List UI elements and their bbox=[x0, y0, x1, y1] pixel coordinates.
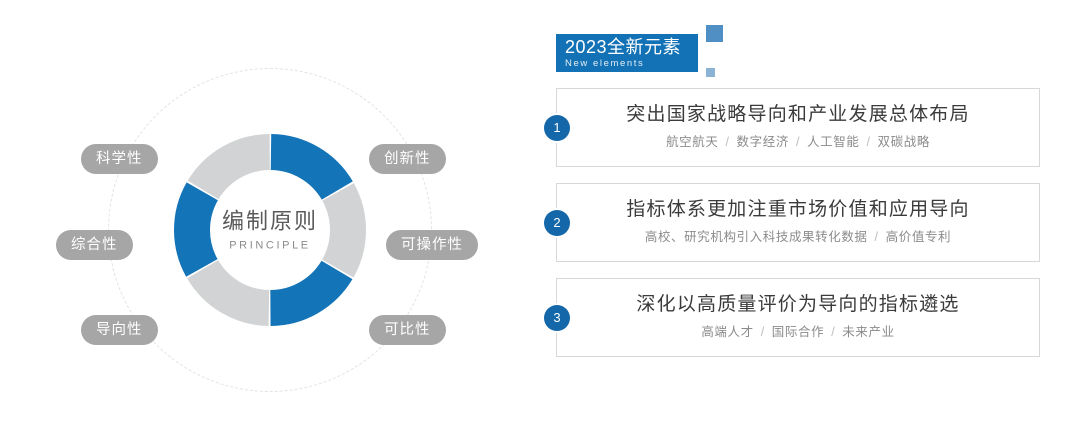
new-elements-panel: 2023全新元素 New elements 1 突出国家战略导向和产业发展总体布… bbox=[530, 0, 1080, 438]
tag-label: 国际合作 bbox=[772, 325, 824, 339]
new-element-card[interactable]: 3 深化以高质量评价为导向的指标遴选 高端人才/国际合作/未来产业 bbox=[556, 278, 1040, 357]
principle-pill-comprehensive[interactable]: 综合性 bbox=[56, 230, 133, 260]
square-decoration-icon-small bbox=[706, 68, 715, 77]
new-element-card[interactable]: 1 突出国家战略导向和产业发展总体布局 航空航天/数字经济/人工智能/双碳战略 bbox=[556, 88, 1040, 167]
tag-separator: / bbox=[859, 135, 877, 149]
tag-label: 高端人才 bbox=[701, 325, 753, 339]
card-title: 指标体系更加注重市场价值和应用导向 bbox=[557, 197, 1039, 223]
tag-separator: / bbox=[718, 135, 736, 149]
tag-label: 航空航天 bbox=[666, 135, 718, 149]
card-title: 深化以高质量评价为导向的指标遴选 bbox=[557, 292, 1039, 318]
card-tags: 高校、研究机构引入科技成果转化数据/高价值专利 bbox=[557, 228, 1039, 246]
donut-chart: 编制原则 PRINCIPLE bbox=[148, 108, 392, 352]
principle-donut-panel: 编制原则 PRINCIPLE 科学性 创新性 综合性 可操作性 导向性 可比性 bbox=[0, 0, 530, 438]
badge-gap-mask bbox=[698, 25, 706, 81]
tag-label: 高价值专利 bbox=[886, 230, 952, 244]
card-body: 深化以高质量评价为导向的指标遴选 高端人才/国际合作/未来产业 bbox=[557, 279, 1039, 341]
donut-chart-svg bbox=[148, 108, 392, 352]
slide-root: 编制原则 PRINCIPLE 科学性 创新性 综合性 可操作性 导向性 可比性 … bbox=[0, 0, 1080, 438]
principle-pill-innovative[interactable]: 创新性 bbox=[369, 144, 446, 174]
tag-label: 人工智能 bbox=[807, 135, 859, 149]
tag-label: 未来产业 bbox=[842, 325, 894, 339]
card-number-badge: 2 bbox=[544, 210, 570, 236]
principle-pill-guiding[interactable]: 导向性 bbox=[81, 315, 158, 345]
tag-label: 双碳战略 bbox=[878, 135, 930, 149]
tag-label: 高校、研究机构引入科技成果转化数据 bbox=[645, 230, 868, 244]
card-title: 突出国家战略导向和产业发展总体布局 bbox=[557, 102, 1039, 128]
new-elements-card-list: 1 突出国家战略导向和产业发展总体布局 航空航天/数字经济/人工智能/双碳战略 … bbox=[556, 88, 1046, 373]
tag-separator: / bbox=[754, 325, 772, 339]
card-tags: 航空航天/数字经济/人工智能/双碳战略 bbox=[557, 133, 1039, 151]
card-number-badge: 3 bbox=[544, 305, 570, 331]
principle-pill-scientific[interactable]: 科学性 bbox=[81, 144, 158, 174]
card-number-badge: 1 bbox=[544, 115, 570, 141]
square-decoration-icon-large bbox=[706, 25, 723, 42]
card-body: 突出国家战略导向和产业发展总体布局 航空航天/数字经济/人工智能/双碳战略 bbox=[557, 89, 1039, 151]
card-body: 指标体系更加注重市场价值和应用导向 高校、研究机构引入科技成果转化数据/高价值专… bbox=[557, 184, 1039, 246]
card-tags: 高端人才/国际合作/未来产业 bbox=[557, 323, 1039, 341]
section-header-text: 2023全新元素 New elements bbox=[565, 36, 681, 70]
tag-label: 数字经济 bbox=[737, 135, 789, 149]
principle-pill-operable[interactable]: 可操作性 bbox=[386, 230, 478, 260]
tag-separator: / bbox=[868, 230, 886, 244]
section-header-title-en: New elements bbox=[565, 58, 681, 70]
new-element-card[interactable]: 2 指标体系更加注重市场价值和应用导向 高校、研究机构引入科技成果转化数据/高价… bbox=[556, 183, 1040, 262]
principle-pill-comparable[interactable]: 可比性 bbox=[369, 315, 446, 345]
tag-separator: / bbox=[789, 135, 807, 149]
section-header-badge: 2023全新元素 New elements bbox=[556, 34, 716, 72]
tag-separator: / bbox=[824, 325, 842, 339]
section-header-title-cn: 2023全新元素 bbox=[565, 36, 681, 58]
